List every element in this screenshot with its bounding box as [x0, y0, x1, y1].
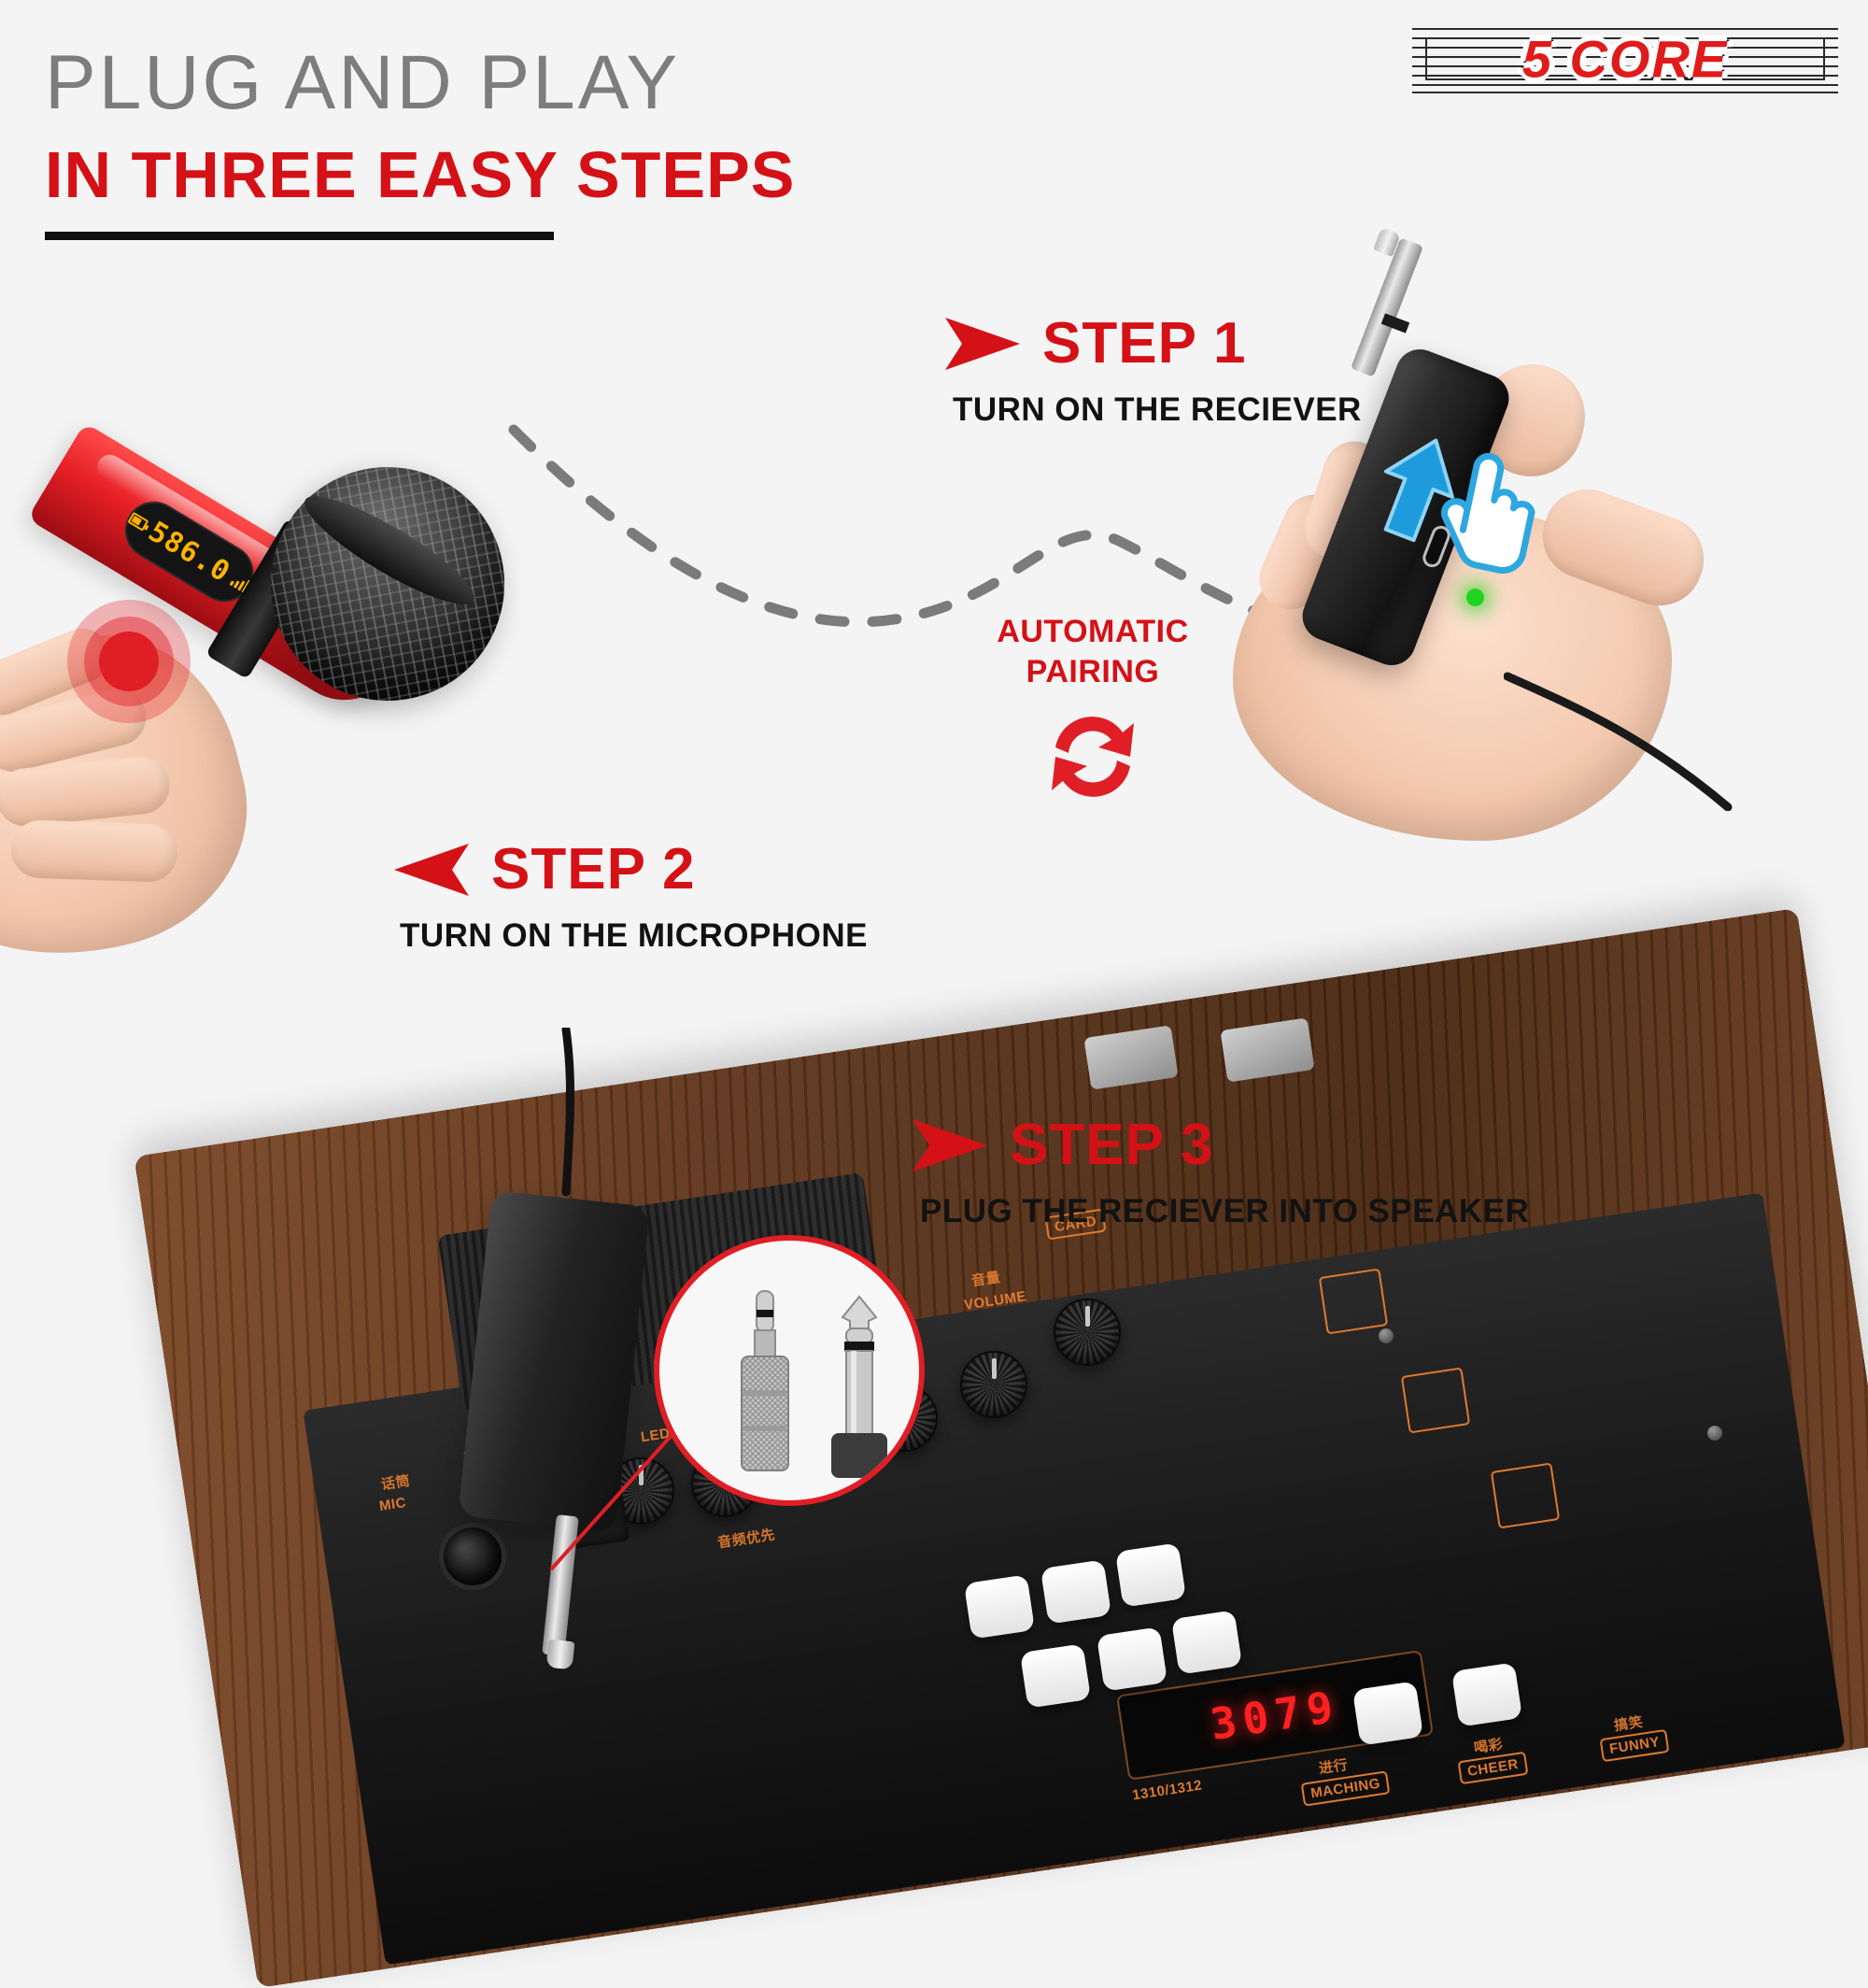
- sync-arrows-wrap: [971, 706, 1214, 812]
- preset-button[interactable]: [1097, 1626, 1167, 1691]
- led-display-value: 3079: [1207, 1681, 1342, 1750]
- pairing-line-1: AUTOMATIC: [971, 612, 1214, 652]
- power-button-tap-indicator: [67, 600, 191, 723]
- step-2-subtitle: TURN ON THE MICROPHONE: [400, 917, 868, 955]
- headline-secondary: IN THREE EASY STEPS: [45, 142, 795, 207]
- step-1-block: STEP 1 TURN ON THE RECIEVER: [943, 310, 1362, 429]
- arrow-left-icon: [392, 842, 471, 898]
- step-1-title: STEP 1: [1042, 310, 1247, 376]
- step-3-title: STEP 3: [1010, 1112, 1214, 1178]
- preset-button[interactable]: [1451, 1662, 1522, 1726]
- sync-arrows-icon: [1037, 706, 1149, 807]
- pairing-line-2: PAIRING: [971, 652, 1214, 692]
- quarter-inch-plug-icon: [826, 1293, 893, 1480]
- panel-screw: [1379, 1328, 1394, 1343]
- adapter-magnifier: [654, 1235, 925, 1506]
- preset-button[interactable]: [1040, 1559, 1111, 1624]
- brand-logo: 5 CORE: [1412, 21, 1838, 97]
- step-3-subtitle: PLUG THE RECIEVER INTO SPEAKER: [920, 1193, 1529, 1230]
- step-2-title-row: STEP 2: [392, 836, 868, 902]
- microphone-grille-head: [227, 423, 547, 744]
- headline-primary: PLUG AND PLAY: [45, 45, 795, 121]
- knob-card-source[interactable]: [1054, 1299, 1121, 1366]
- plug-tip: [546, 1640, 575, 1670]
- icon-box-mic: [1491, 1462, 1560, 1528]
- arrow-right-icon: [911, 1117, 989, 1173]
- preset-button[interactable]: [1115, 1542, 1186, 1607]
- step-1-subtitle: TURN ON THE RECIEVER: [953, 391, 1362, 429]
- arrow-right-icon: [943, 316, 1022, 372]
- receiver-antenna-cable: [476, 1028, 644, 1214]
- preset-button[interactable]: [1352, 1681, 1423, 1745]
- icon-box-usb: [1401, 1367, 1470, 1433]
- logo-wordmark: 5 CORE: [1412, 29, 1838, 90]
- receiver-cable: [1504, 671, 1775, 811]
- preset-button[interactable]: [1171, 1610, 1242, 1674]
- step-3-block: STEP 3 PLUG THE RECIEVER INTO SPEAKER: [911, 1112, 1529, 1230]
- preset-button[interactable]: [1020, 1643, 1091, 1708]
- icon-box-radio: [1319, 1268, 1388, 1334]
- page-title: PLUG AND PLAY IN THREE EASY STEPS: [45, 45, 795, 240]
- step-3-title-row: STEP 3: [911, 1112, 1529, 1178]
- automatic-pairing-block: AUTOMATIC PAIRING: [971, 612, 1214, 812]
- step-2-block: STEP 2 TURN ON THE MICROPHONE: [392, 836, 868, 955]
- battery-icon: [128, 511, 149, 531]
- title-underline-rule: [45, 232, 554, 240]
- infographic-canvas: PLUG AND PLAY IN THREE EASY STEPS 5 CORE…: [0, 0, 1868, 1868]
- step-1-title-row: STEP 1: [943, 310, 1362, 376]
- microphone-mesh-texture: [227, 423, 547, 744]
- green-status-led-icon: [1466, 589, 1484, 606]
- knob-master-volume[interactable]: [960, 1351, 1027, 1418]
- preset-button[interactable]: [964, 1574, 1035, 1639]
- 3.5mm-to-6.35mm-adapter-icon: [730, 1285, 800, 1482]
- logo-wordmark-text: 5 CORE: [1522, 30, 1729, 89]
- finger: [10, 819, 178, 883]
- panel-screw: [1707, 1426, 1722, 1441]
- step-2-title: STEP 2: [491, 836, 696, 902]
